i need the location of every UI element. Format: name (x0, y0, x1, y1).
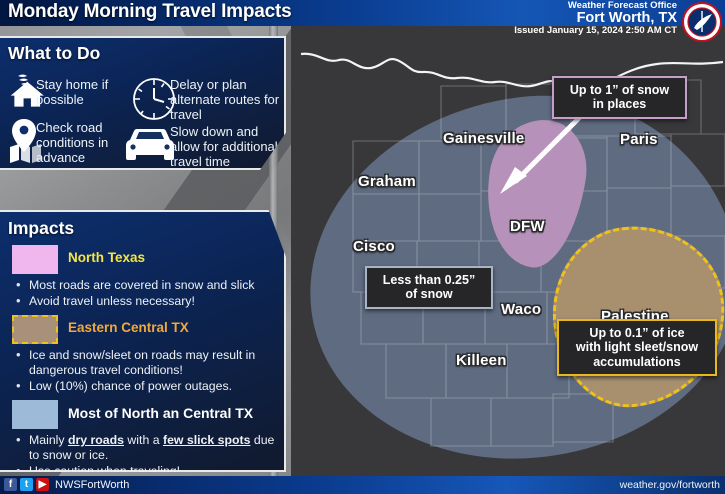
header-bar: Monday Morning Travel Impacts Weather Fo… (0, 0, 725, 26)
callout-line: with light sleet/snow (567, 340, 707, 354)
city-label-graham: Graham (358, 173, 416, 190)
what-to-do-title: What to Do (8, 43, 100, 64)
forecast-map[interactable]: Gainesville Paris Graham DFW Cisco Waco … (291, 26, 725, 478)
page-title: Monday Morning Travel Impacts (8, 1, 291, 23)
what-to-do-item-0-text: Stay home if possible (36, 77, 116, 107)
city-label-paris: Paris (620, 131, 658, 148)
social-links[interactable]: f t ▶ NWSFortWorth (4, 478, 129, 491)
callout-line: accumulations (567, 355, 707, 369)
impacts-bullets-north-texas: Most roads are covered in snow and slick… (14, 278, 279, 310)
bullet-item: Avoid travel unless necessary! (14, 294, 279, 309)
issued-timestamp: Issued January 15, 2024 2:50 AM CT (514, 26, 677, 36)
what-to-do-panel: What to Do Stay home if possible (0, 36, 286, 170)
facebook-icon[interactable]: f (4, 478, 17, 491)
legend-label-north-texas: North Texas (68, 250, 145, 265)
legend-swatch-eastern-central-tx (12, 315, 58, 344)
youtube-icon[interactable]: ▶ (36, 478, 49, 491)
impacts-panel: Impacts North Texas Most roads are cover… (0, 210, 286, 472)
travel-impacts-graphic: Gainesville Paris Graham DFW Cisco Waco … (0, 0, 725, 494)
impacts-bullets-eastern-central-tx: Ice and snow/sleet on roads may result i… (14, 348, 279, 394)
website-url[interactable]: weather.gov/fortworth (620, 479, 720, 491)
city-label-cisco: Cisco (353, 238, 395, 255)
callout-ice-accum: Up to 0.1” of ice with light sleet/snow … (557, 319, 717, 376)
bullet-item: Low (10%) chance of power outages. (14, 379, 279, 394)
what-to-do-item-2-text: Delay or plan alternate routes for trave… (170, 77, 282, 122)
city-label-dfw: DFW (510, 218, 545, 235)
city-label-killeen: Killeen (456, 352, 507, 369)
callout-line: of snow (375, 287, 483, 301)
legend-swatch-most-of-north-central-tx (12, 400, 58, 429)
weather-forecast-office-block: Weather Forecast Office Fort Worth, TX I… (514, 1, 677, 36)
callout-line: in places (562, 97, 677, 111)
footer-bar: f t ▶ NWSFortWorth weather.gov/fortworth (0, 476, 725, 494)
callout-line: Up to 1” of snow (562, 83, 677, 97)
impacts-title: Impacts (8, 218, 74, 239)
bullet-item: Mainly dry roads with a few slick spots … (14, 433, 284, 463)
city-label-gainesville: Gainesville (443, 130, 524, 147)
social-handle: NWSFortWorth (55, 479, 129, 491)
noaa-national-weather-service-logo (682, 2, 722, 42)
legend-label-eastern-central-tx: Eastern Central TX (68, 320, 189, 335)
twitter-icon[interactable]: t (20, 478, 33, 491)
bullet-item: Ice and snow/sleet on roads may result i… (14, 348, 279, 378)
callout-line: Up to 0.1” of ice (567, 326, 707, 340)
callout-snow-dfw: Up to 1” of snow in places (552, 76, 687, 119)
what-to-do-item-1-text: Check road conditions in advance (36, 120, 116, 165)
office-location: Fort Worth, TX (514, 11, 677, 26)
legend-label-most-of-north-central-tx: Most of North an Central TX (68, 405, 253, 421)
legend-swatch-north-texas (12, 245, 58, 274)
callout-line: Less than 0.25” (375, 273, 483, 287)
city-label-waco: Waco (501, 301, 541, 318)
callout-light-snow: Less than 0.25” of snow (365, 266, 493, 309)
bullet-item: Most roads are covered in snow and slick (14, 278, 279, 293)
